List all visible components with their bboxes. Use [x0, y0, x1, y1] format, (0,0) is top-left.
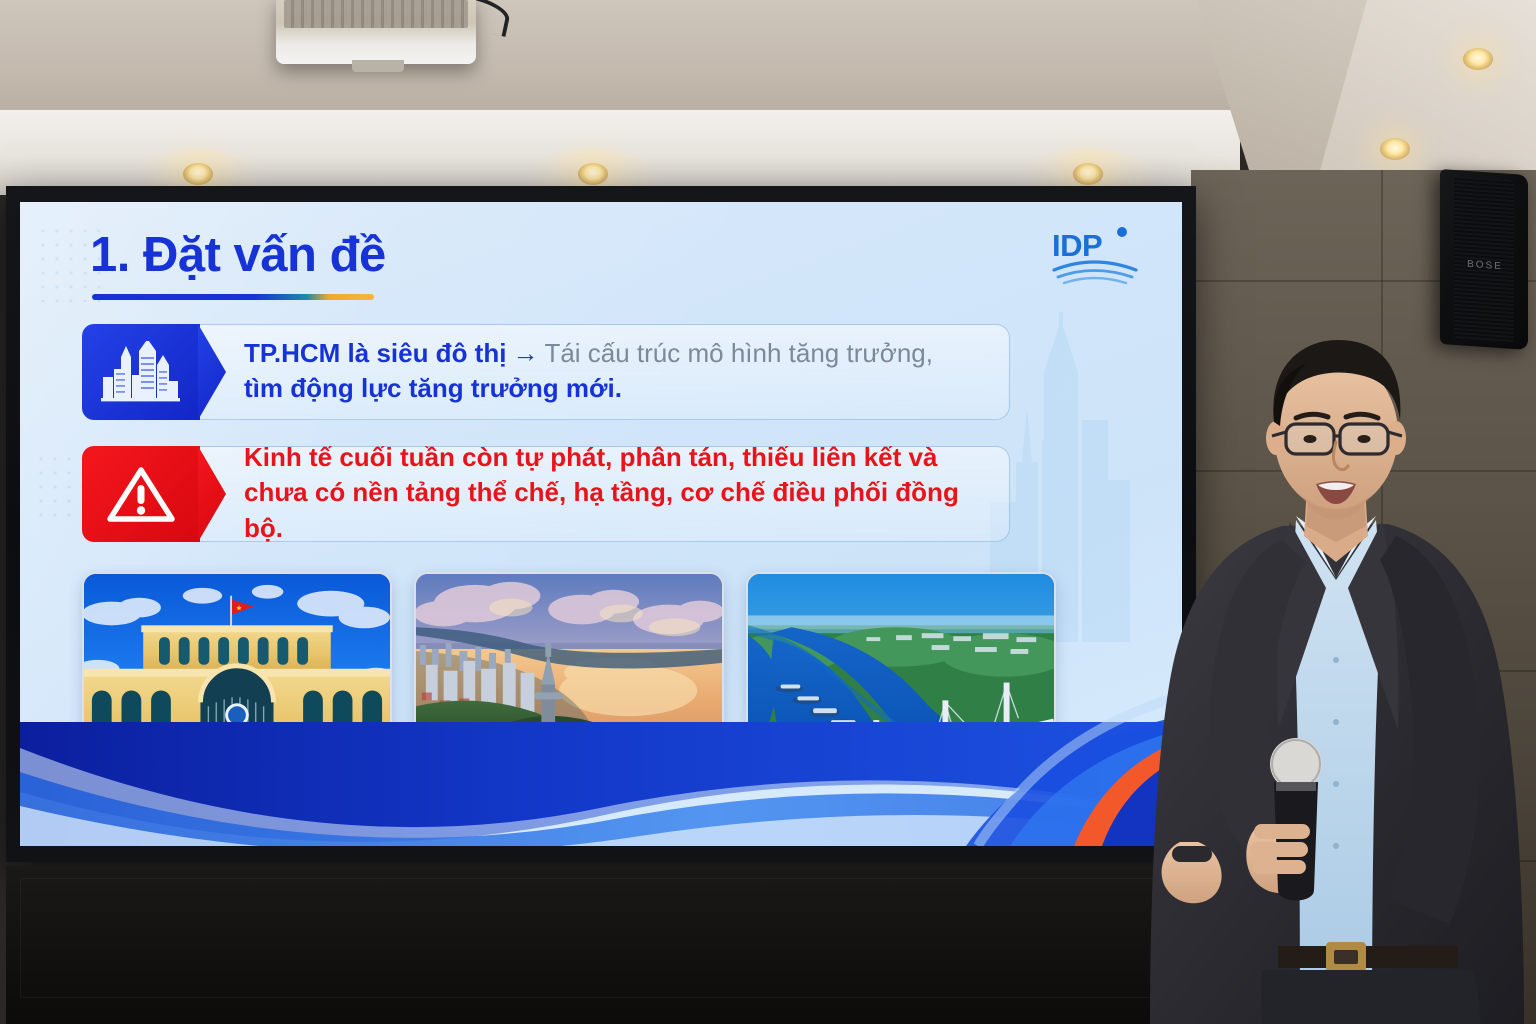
callout-strong-tail: tìm động lực tăng trưởng mới. — [244, 373, 622, 403]
idp-logo: IDP — [1050, 224, 1142, 286]
callout-body: Kinh tế cuối tuần còn tự phát, phân tán,… — [200, 446, 1010, 542]
callout-body: TP.HCM là siêu đô thị→Tái cấu trúc mô hì… — [200, 324, 1010, 420]
warning-triangle-icon — [106, 463, 176, 525]
speaker-brand-label: BOSE — [1458, 258, 1512, 273]
footer-wave-decoration — [20, 696, 1180, 846]
wall-speaker: BOSE — [1440, 169, 1528, 350]
callout-accent-tag — [82, 324, 200, 420]
callout-text: TP.HCM là siêu đô thị→Tái cấu trúc mô hì… — [244, 336, 933, 407]
callout-text: Kinh tế cuối tuần còn tự phát, phân tán,… — [244, 440, 989, 546]
ceiling-downlight — [1073, 163, 1103, 185]
callout-strong-lead: TP.HCM là siêu đô thị — [244, 338, 506, 368]
ceiling-downlight — [1380, 138, 1410, 160]
callout-problem: Kinh tế cuối tuần còn tự phát, phân tán,… — [82, 446, 1010, 542]
ceiling-downlight — [578, 163, 608, 185]
presentation-clicker — [1172, 846, 1212, 862]
ceiling-upper-band — [0, 0, 1300, 120]
city-skyline-icon — [99, 341, 183, 403]
projector-ports — [284, 0, 468, 28]
conference-room-scene: BOSE — [0, 0, 1536, 1024]
presentation-screen: 1. Đặt vấn đề IDP — [6, 186, 1196, 862]
screen-lower-panel — [6, 866, 1196, 1024]
callout-accent-tag — [82, 446, 200, 542]
callout-line-2: chưa có nền tảng thể chế, hạ tầng, cơ ch… — [244, 477, 959, 542]
slide-canvas: 1. Đặt vấn đề IDP — [20, 202, 1182, 846]
callout-line-1: Kinh tế cuối tuần còn tự phát, phân tán,… — [244, 442, 937, 472]
projector-mount — [352, 60, 404, 72]
ceiling-downlight — [183, 163, 213, 185]
page-title: 1. Đặt vấn đề — [90, 230, 386, 281]
callout-opportunity: TP.HCM là siêu đô thị→Tái cấu trúc mô hì… — [82, 324, 1010, 420]
presenter-person — [1150, 330, 1536, 1024]
ceiling-downlight — [1463, 48, 1493, 70]
callout-soft-text: Tái cấu trúc mô hình tăng trưởng, — [544, 338, 933, 368]
arrow-glyph: → — [506, 338, 544, 368]
title-underline-rule — [92, 294, 374, 300]
ceiling-projector — [276, 0, 476, 64]
svg-text:IDP: IDP — [1052, 228, 1102, 263]
